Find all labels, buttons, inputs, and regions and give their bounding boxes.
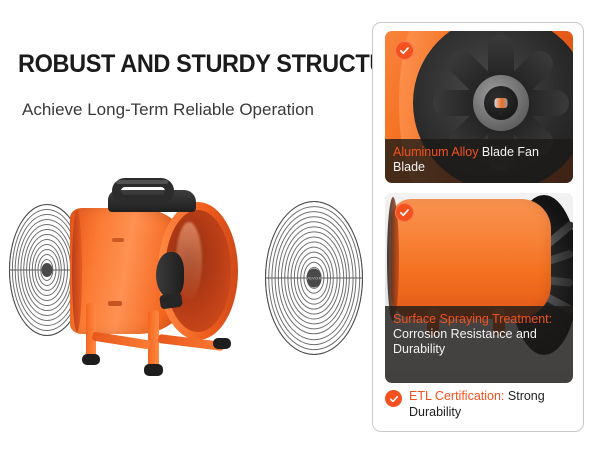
card-caption-highlight: Aluminum Alloy [393, 145, 478, 159]
wire-guard-right-icon: VEVOR [266, 202, 362, 354]
feature-card-surface-spraying-treatment[interactable]: Surface Spraying Treatment: Corrosion Re… [385, 193, 573, 383]
bullet-highlight: ETL Certification: [409, 389, 504, 403]
support-rail-left [92, 332, 151, 350]
page-subtitle: Achieve Long-Term Reliable Operation [22, 100, 314, 120]
marketing-banner: ROBUST AND STURDY STRUCTURE Achieve Long… [0, 0, 600, 450]
carry-handle-highlight [116, 180, 168, 184]
rubber-foot-right [213, 338, 231, 349]
card-caption: Surface Spraying Treatment: Corrosion Re… [385, 306, 573, 383]
fan-motor [156, 252, 184, 298]
rubber-foot-center [144, 364, 163, 376]
hub-bolt [495, 98, 508, 108]
card-caption-highlight: Surface Spraying Treatment: [393, 312, 552, 326]
check-icon [385, 390, 402, 407]
guard-hub [42, 263, 53, 277]
page-title: ROBUST AND STURDY STRUCTURE [18, 50, 418, 79]
card-caption-rest: Corrosion Resistance and Durability [393, 327, 537, 356]
bullet-text: ETL Certification: Strong Durability [409, 389, 575, 420]
check-icon [395, 203, 414, 222]
rubber-foot-left [82, 354, 100, 365]
check-icon [395, 41, 414, 60]
housing-seam [72, 210, 82, 332]
feature-panel: Aluminum Alloy Blade Fan Blade [372, 22, 584, 432]
card-caption: Aluminum Alloy Blade Fan Blade [385, 139, 573, 183]
guard-hub: VEVOR [307, 269, 322, 288]
housing-closeup [391, 199, 551, 319]
housing-latch [108, 301, 122, 306]
feature-card-aluminum-alloy-blade[interactable]: Aluminum Alloy Blade Fan Blade [385, 31, 573, 183]
feature-bullet-etl-certification: ETL Certification: Strong Durability [385, 389, 575, 420]
product-image-blower-fan: VEVOR [8, 170, 368, 390]
housing-bolt [112, 238, 124, 242]
